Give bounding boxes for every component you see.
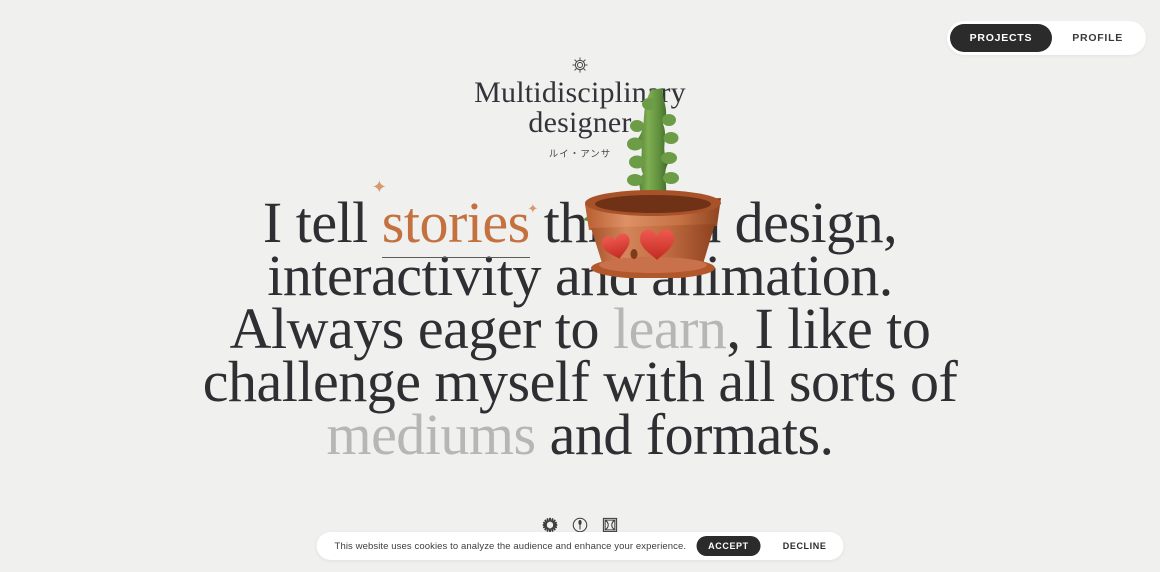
hero-headline: I tell ✦stories✦ through design, interac… [0, 196, 1160, 461]
cookie-consent-banner: This website uses cookies to analyze the… [317, 532, 844, 560]
headline-line-3: Always eager to learn, I like to [0, 302, 1160, 355]
nav-tab-projects[interactable]: PROJECTS [950, 24, 1053, 52]
headline-line-4: challenge myself with all sorts of [0, 355, 1160, 408]
cookie-message: This website uses cookies to analyze the… [335, 541, 687, 552]
headline-accent-stories-label: stories [382, 190, 530, 255]
headline-accent-stories[interactable]: ✦stories✦ [382, 190, 530, 258]
headline-line-5-post: and formats. [536, 402, 834, 467]
nav-tab-profile-label: PROFILE [1072, 32, 1123, 44]
brand-title: Multidisciplinary designer [430, 78, 730, 138]
cookie-accept-button[interactable]: ACCEPT [696, 536, 761, 556]
nav-tab-profile[interactable]: PROFILE [1052, 24, 1143, 52]
cookie-decline-label: DECLINE [783, 541, 827, 551]
gear-icon [571, 56, 589, 74]
headline-line-2: interactivity and animation. [0, 249, 1160, 302]
cookie-decline-button[interactable]: DECLINE [771, 536, 839, 556]
cookie-accept-label: ACCEPT [708, 541, 749, 551]
brand-header: Multidisciplinary designer ルイ・アンサ [0, 56, 1160, 160]
headline-muted-mediums: mediums [326, 402, 535, 467]
headline-line-1: I tell ✦stories✦ through design, [0, 196, 1160, 249]
top-nav-toggle: PROJECTS PROFILE [947, 21, 1146, 55]
brand-subtitle: ルイ・アンサ [0, 146, 1160, 160]
nav-tab-projects-label: PROJECTS [970, 32, 1033, 44]
headline-line-5: mediums and formats. [0, 408, 1160, 461]
